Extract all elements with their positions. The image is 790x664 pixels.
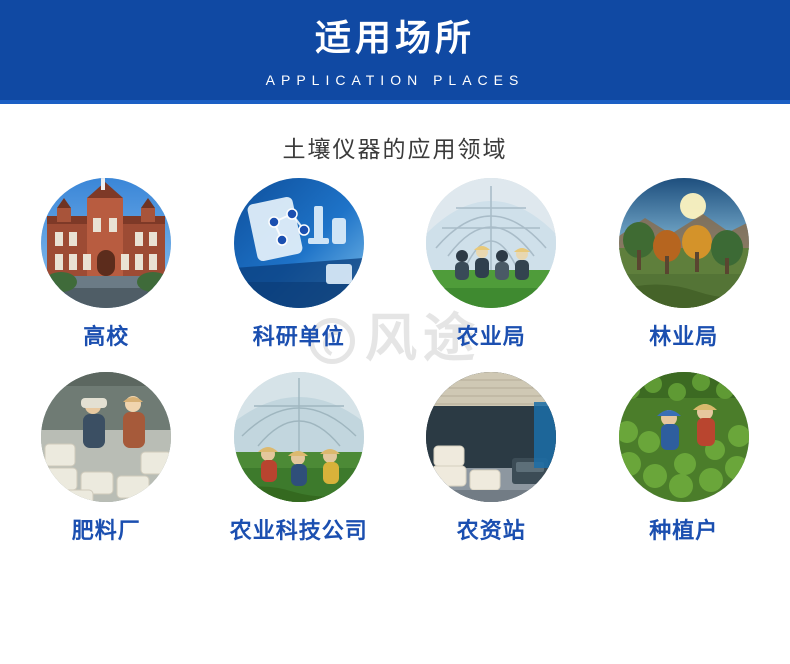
- greenhouse-seedlings-photo: [234, 372, 364, 502]
- application-item-label: 农业科技公司: [203, 518, 396, 544]
- banner-title: 适用场所: [0, 0, 790, 56]
- application-item-agritech-company[interactable]: 农业科技公司: [203, 350, 396, 544]
- application-item-label: 林业局: [588, 324, 781, 350]
- university-building-photo: [41, 178, 171, 308]
- application-item-research[interactable]: 科研单位: [203, 170, 396, 350]
- greenhouse-field-workers-photo: [426, 178, 556, 308]
- page-banner: 适用场所 APPLICATION PLACES: [0, 0, 790, 104]
- application-item-label: 农资站: [395, 518, 588, 544]
- application-item-label: 肥料厂: [10, 518, 203, 544]
- application-places-page: 适用场所 APPLICATION PLACES 土壤仪器的应用领域 风途: [0, 0, 790, 664]
- application-grid-row-1: 高校: [10, 170, 780, 350]
- application-item-agriculture-bureau[interactable]: 农业局: [395, 170, 588, 350]
- application-item-label: 高校: [10, 324, 203, 350]
- banner-subtitle: APPLICATION PLACES: [0, 56, 790, 88]
- fertilizer-sacks-workers-photo: [41, 372, 171, 502]
- application-item-growers[interactable]: 种植户: [588, 350, 781, 544]
- application-item-forestry-bureau[interactable]: 林业局: [588, 170, 781, 350]
- autumn-forest-photo: [619, 178, 749, 308]
- section-heading: 土壤仪器的应用领域: [0, 104, 790, 170]
- laboratory-research-photo: [234, 178, 364, 308]
- application-item-label: 种植户: [588, 518, 781, 544]
- warehouse-storage-photo: [426, 372, 556, 502]
- farmers-harvesting-field-photo: [619, 372, 749, 502]
- application-item-fertilizer-plant[interactable]: 肥料厂: [10, 350, 203, 544]
- application-item-university[interactable]: 高校: [10, 170, 203, 350]
- application-item-label: 科研单位: [203, 324, 396, 350]
- application-item-label: 农业局: [395, 324, 588, 350]
- application-item-agri-supply-station[interactable]: 农资站: [395, 350, 588, 544]
- application-grid-row-2: 肥料厂: [10, 350, 780, 544]
